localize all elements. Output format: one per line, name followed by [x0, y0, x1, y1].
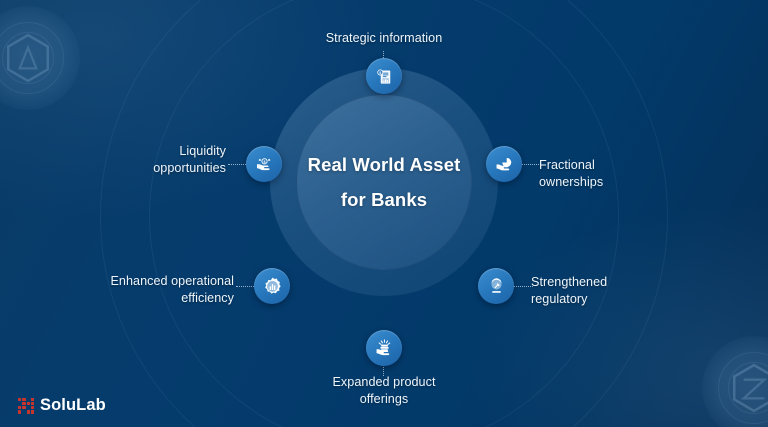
node-label: Liquidity opportunities: [62, 143, 226, 176]
solulab-logo[interactable]: SoluLab: [18, 396, 106, 415]
svg-text:$: $: [263, 159, 265, 163]
hexagon-watermark-bottom-right: [702, 336, 768, 427]
solulab-logo-text: SoluLab: [40, 396, 106, 415]
center-title-line-2: for Banks: [341, 190, 427, 209]
hand-coin-stack-icon[interactable]: [366, 330, 402, 366]
hand-coin-icon[interactable]: $: [246, 146, 282, 182]
connector-line: [228, 164, 248, 165]
gavel-shield-icon[interactable]: [478, 268, 514, 304]
node-label: Fractional ownerships: [539, 157, 719, 190]
hexagon-icon: [0, 6, 80, 110]
node-label: Expanded product offerings: [274, 374, 494, 407]
node-label: Strategic information: [274, 30, 494, 47]
solulab-pixel-mark-icon: [18, 398, 34, 414]
node-label: Strengthened regulatory: [531, 274, 711, 307]
watermark-halo: [702, 336, 768, 427]
hexagon-watermark-top-left: [0, 6, 80, 110]
svg-text:$: $: [379, 70, 381, 74]
document-chart-icon[interactable]: $: [366, 58, 402, 94]
watermark-ring-inner: [2, 32, 54, 84]
center-title-line-1: Real World Asset: [308, 155, 461, 174]
gear-bar-chart-icon[interactable]: [254, 268, 290, 304]
watermark-ring-outer: [718, 352, 768, 424]
connector-line: [236, 286, 256, 287]
connector-line: [521, 164, 541, 165]
infographic-canvas: Real World Asset for Banks $ Strategic i…: [0, 0, 768, 427]
node-label: Enhanced operational efficiency: [48, 273, 234, 306]
center-title: Real World Asset for Banks: [296, 94, 472, 270]
hand-pie-chart-icon[interactable]: [486, 146, 522, 182]
hexagon-icon: [702, 336, 768, 427]
watermark-ring-outer: [0, 22, 64, 94]
watermark-ring-inner: [728, 362, 768, 414]
connector-line: [513, 286, 533, 287]
watermark-halo: [0, 6, 80, 110]
